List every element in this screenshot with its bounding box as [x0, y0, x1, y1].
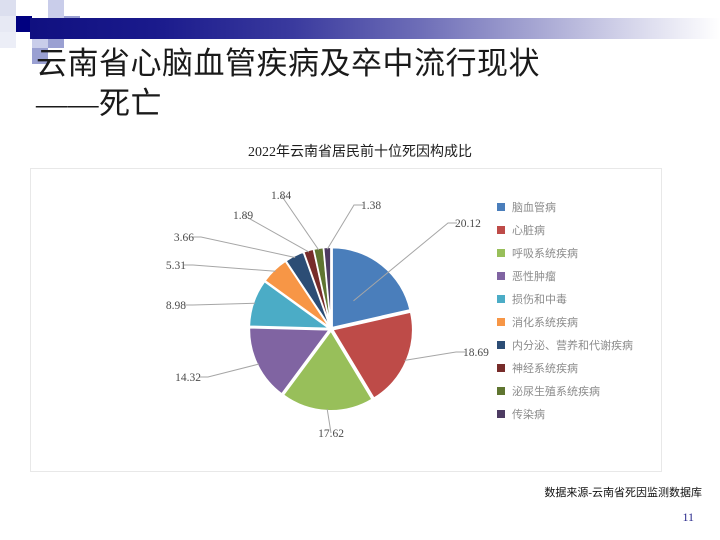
legend-swatch-icon [497, 272, 505, 280]
legend-item[interactable]: 呼吸系统疾病 [497, 241, 662, 264]
pie-data-label: 20.12 [455, 218, 481, 230]
deco-square-light-3 [0, 32, 16, 48]
pie-data-label: 17.62 [318, 428, 344, 440]
legend-item[interactable]: 神经系统疾病 [497, 356, 662, 379]
chart-legend: 脑血管病心脏病呼吸系统疾病恶性肿瘤损伤和中毒消化系统疾病内分泌、营养和代谢疾病神… [497, 195, 662, 425]
deco-square-mid-1 [48, 0, 64, 16]
legend-label: 呼吸系统疾病 [512, 245, 578, 261]
legend-swatch-icon [497, 226, 505, 234]
legend-label: 内分泌、营养和代谢疾病 [512, 337, 633, 353]
legend-label: 神经系统疾病 [512, 360, 578, 376]
leader-line [184, 265, 276, 271]
legend-item[interactable]: 消化系统疾病 [497, 310, 662, 333]
legend-swatch-icon [497, 318, 505, 326]
legend-swatch-icon [497, 203, 505, 211]
source-note: 数据来源-云南省死因监测数据库 [544, 484, 702, 500]
legend-item[interactable]: 恶性肿瘤 [497, 264, 662, 287]
page-title-line-1: 云南省心脑血管疾病及卒中流行现状 [36, 46, 540, 81]
legend-swatch-icon [497, 364, 505, 372]
deco-square-light-1 [0, 0, 16, 16]
leader-line [192, 237, 295, 257]
leader-line [281, 195, 319, 250]
leader-line [405, 352, 465, 360]
chart-title: 2022年云南省居民前十位死因构成比 [0, 141, 720, 161]
legend-item[interactable]: 脑血管病 [497, 195, 662, 218]
legend-swatch-icon [497, 410, 505, 418]
pie-data-label: 8.98 [166, 300, 186, 312]
legend-swatch-icon [497, 249, 505, 257]
leader-line [199, 364, 259, 377]
pie-data-label: 1.84 [271, 190, 291, 202]
leader-line [184, 303, 255, 305]
pie-data-label: 14.32 [175, 372, 201, 384]
leader-line [327, 205, 363, 249]
pie-data-label: 5.31 [166, 260, 186, 272]
deco-square-light-2 [0, 16, 16, 32]
legend-label: 泌尿生殖系统疾病 [512, 383, 600, 399]
page-title: 云南省心脑血管疾病及卒中流行现状 ——死亡 [36, 44, 686, 123]
deco-square-light-4 [32, 0, 48, 16]
legend-label: 恶性肿瘤 [512, 268, 556, 284]
title-gradient-band [30, 18, 720, 39]
legend-swatch-icon [497, 341, 505, 349]
legend-label: 损伤和中毒 [512, 291, 567, 307]
legend-swatch-icon [497, 295, 505, 303]
legend-label: 消化系统疾病 [512, 314, 578, 330]
legend-item[interactable]: 损伤和中毒 [497, 287, 662, 310]
pie-data-label: 1.38 [361, 200, 381, 212]
legend-item[interactable]: 心脏病 [497, 218, 662, 241]
chart-frame: 20.1218.6917.6214.328.985.313.661.891.84… [30, 168, 662, 472]
legend-label: 脑血管病 [512, 199, 556, 215]
legend-item[interactable]: 内分泌、营养和代谢疾病 [497, 333, 662, 356]
page-title-line-2: ——死亡 [36, 84, 686, 124]
legend-swatch-icon [497, 387, 505, 395]
pie-data-label: 18.69 [463, 347, 489, 359]
pie-data-label: 3.66 [174, 232, 194, 244]
legend-label: 传染病 [512, 406, 545, 422]
page-number: 11 [682, 510, 694, 525]
legend-item[interactable]: 泌尿生殖系统疾病 [497, 379, 662, 402]
legend-label: 心脏病 [512, 222, 545, 238]
pie-data-label: 1.89 [233, 210, 253, 222]
legend-item[interactable]: 传染病 [497, 402, 662, 425]
